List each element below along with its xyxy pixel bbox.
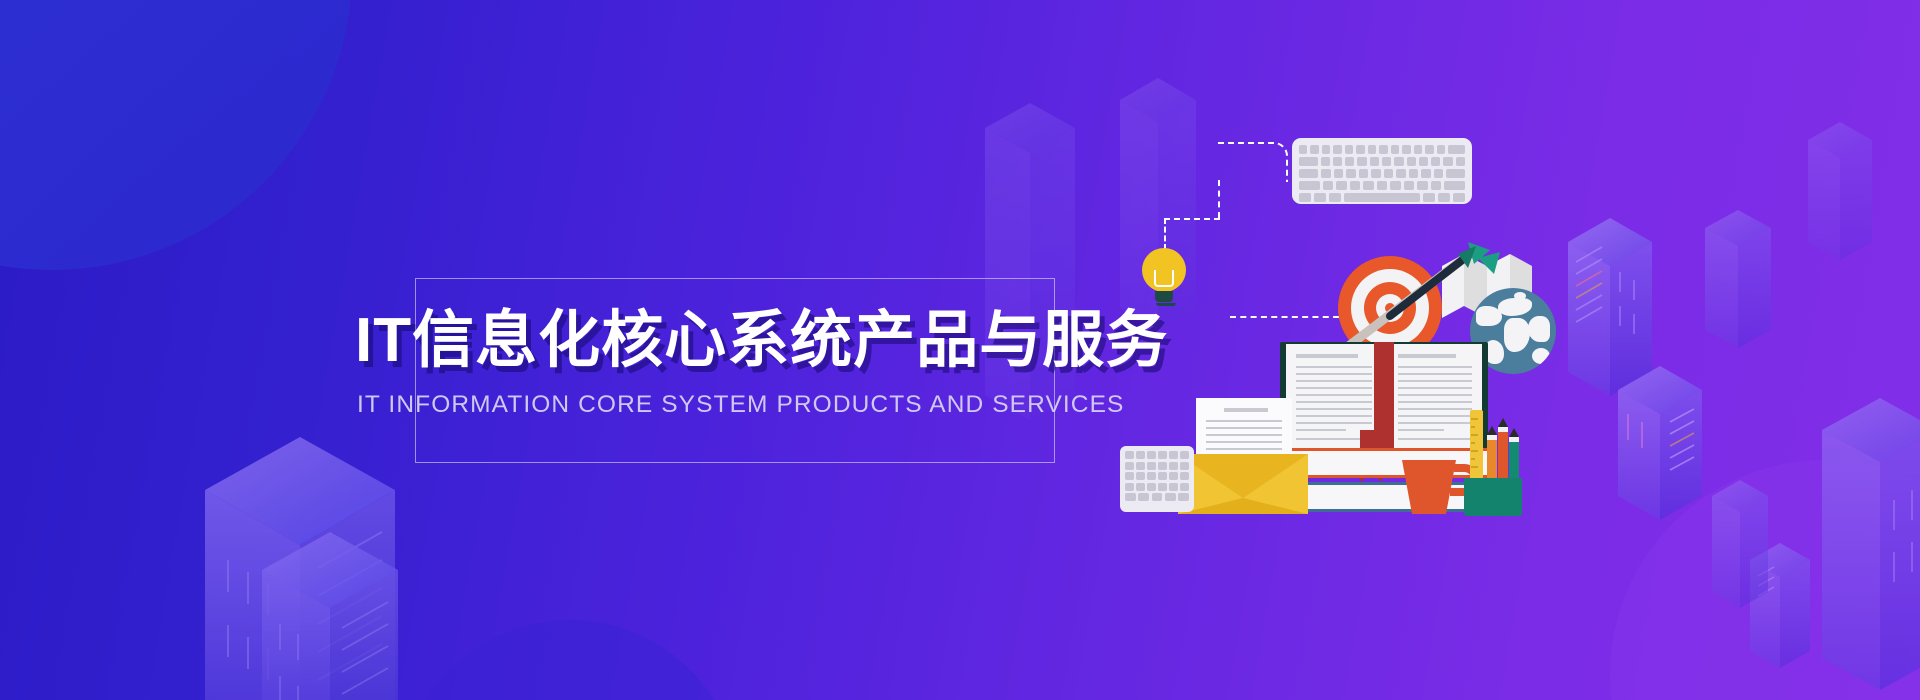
it-office-illustration <box>1120 130 1550 570</box>
page-title: IT信息化核心系统产品与服务 <box>355 310 1168 372</box>
dashed-line-segment <box>1164 218 1220 220</box>
keyboard-icon <box>1292 138 1472 204</box>
page-subtitle: IT INFORMATION CORE SYSTEM PRODUCTS AND … <box>357 391 1124 419</box>
dashed-line-segment <box>1164 218 1166 250</box>
envelope-icon <box>1178 398 1308 514</box>
dashed-line-segment <box>1218 180 1220 218</box>
dashed-line-connector <box>1218 142 1288 182</box>
keyboard-icon <box>1120 446 1194 512</box>
open-book-icon <box>1280 342 1488 454</box>
hero-banner: IT信息化核心系统产品与服务 IT INFORMATION CORE SYSTE… <box>0 0 1920 700</box>
pencil-holder-icon <box>1464 410 1522 514</box>
coffee-cup-icon <box>1402 460 1472 514</box>
title-block: IT信息化核心系统产品与服务 IT INFORMATION CORE SYSTE… <box>415 278 1055 463</box>
lightbulb-icon <box>1142 248 1190 310</box>
